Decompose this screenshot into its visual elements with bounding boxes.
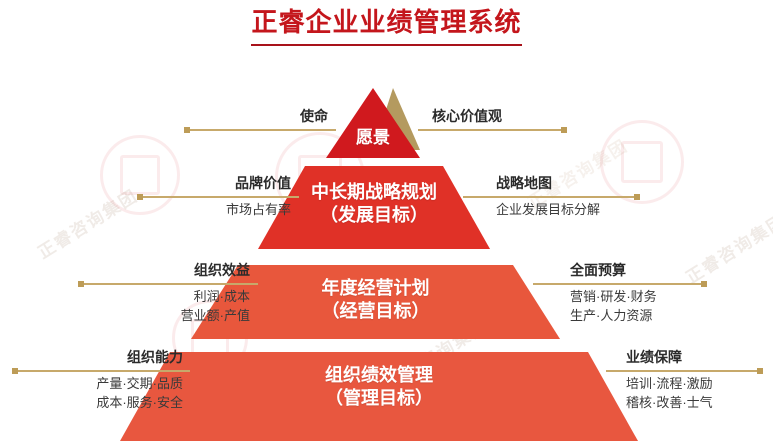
annotation-comprehensive-budget: 全面预算: [570, 261, 740, 281]
annotation-performance-assurance: 业绩保障: [626, 348, 773, 368]
annotation-core-values: 核心价值观: [432, 107, 592, 127]
diagram-canvas: 正睿咨询集团 正睿咨询集团 正睿咨询集团 正睿咨询集团 正睿咨询集团 正睿企业业…: [0, 0, 773, 446]
annotation-brand-value-sub: 市场占有率: [143, 199, 291, 218]
annotation-performance-assurance-head: 业绩保障: [626, 348, 773, 368]
annotation-mission-head: 使命: [188, 107, 328, 127]
annotation-organizational-benefit-head: 组织效益: [95, 261, 250, 281]
rule-dot: [184, 127, 190, 133]
annotation-strategy-map-rule: [463, 196, 638, 198]
tier-label-organizational-performance-management: 组织绩效管理 （管理目标）: [120, 364, 638, 410]
annotation-core-values-head: 核心价值观: [432, 107, 592, 127]
annotation-brand-value: 品牌价值: [143, 174, 291, 194]
annotation-brand-value-head: 品牌价值: [143, 174, 291, 194]
rule-dot: [12, 368, 18, 374]
annotation-organizational-capability-head: 组织能力: [28, 348, 183, 368]
annotation-mission: 使命: [188, 107, 328, 127]
annotation-performance-assurance-rule: [606, 370, 761, 372]
annotation-organizational-capability: 组织能力: [28, 348, 183, 368]
annotation-strategy-map-head: 战略地图: [496, 174, 686, 194]
annotation-mission-rule: [186, 129, 336, 131]
annotation-comprehensive-budget-sub: 营销·研发·财务 生产·人力资源: [570, 286, 740, 324]
annotation-performance-assurance-sub: 培训·流程·激励 稽核·改善·士气: [626, 373, 773, 411]
tier-label-vision: 愿景: [326, 127, 420, 149]
annotation-strategy-map: 战略地图: [496, 174, 686, 194]
annotation-strategy-map-sub: 企业发展目标分解: [496, 199, 686, 218]
rule-dot: [561, 127, 567, 133]
tier-label-mid-long-term-strategy: 中长期战略规划 （发展目标）: [258, 181, 490, 227]
annotation-organizational-benefit: 组织效益: [95, 261, 250, 281]
annotation-brand-value-rule: [139, 196, 299, 198]
annotation-organizational-benefit-sub: 利润·成本 营业额·产值: [95, 286, 250, 324]
rule-dot: [78, 281, 84, 287]
annotation-comprehensive-budget-rule: [533, 283, 705, 285]
annotation-organizational-capability-sub: 产量·交期·品质 成本·服务·安全: [28, 373, 183, 411]
annotation-comprehensive-budget-head: 全面预算: [570, 261, 740, 281]
annotation-organizational-benefit-rule: [80, 283, 258, 285]
annotation-core-values-rule: [418, 129, 565, 131]
annotation-organizational-capability-rule: [14, 370, 190, 372]
